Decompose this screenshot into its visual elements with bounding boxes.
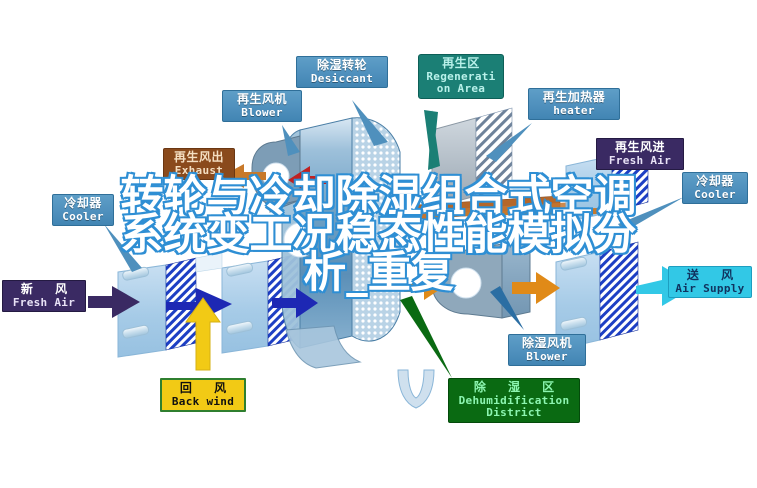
label-regen-fresh-air-in-en: Fresh Air [601, 155, 679, 167]
label-dehumid-blower-cn: 除湿风机 [513, 337, 581, 350]
diagram-canvas: 除湿转轮 Desiccant 再生风机 Blower 再生区 Regenerat… [0, 0, 757, 488]
label-dehumid-blower-en: Blower [513, 351, 581, 363]
label-regen-fresh-air-in[interactable]: 再生风进 Fresh Air [596, 138, 684, 170]
label-regeneration-area-en-2: on Area [423, 83, 499, 95]
label-regen-exhaust[interactable]: 再生风出 Exhaust [163, 148, 235, 180]
label-back-wind[interactable]: 回 风 Back wind [160, 378, 246, 412]
label-regen-blower[interactable]: 再生风机 Blower [222, 90, 302, 122]
label-cooler-right-en: Cooler [687, 189, 743, 201]
label-dehumidification-district-cn: 除 湿 区 [453, 381, 575, 394]
label-cooler-left[interactable]: 冷却器 Cooler [52, 194, 114, 226]
label-regen-exhaust-en: Exhaust [168, 165, 230, 177]
label-desiccant-wheel-cn: 除湿转轮 [301, 59, 383, 72]
label-regen-blower-cn: 再生风机 [227, 93, 297, 106]
label-back-wind-en: Back wind [166, 396, 240, 408]
label-air-supply[interactable]: 送 风 Air Supply [668, 266, 752, 298]
label-regen-exhaust-cn: 再生风出 [168, 151, 230, 164]
label-air-supply-cn: 送 风 [673, 269, 747, 282]
label-fresh-air-in-en: Fresh Air [7, 297, 81, 309]
label-cooler-right-cn: 冷却器 [687, 175, 743, 188]
label-dehumid-blower[interactable]: 除湿风机 Blower [508, 334, 586, 366]
label-regen-heater-cn: 再生加热器 [533, 91, 615, 104]
label-fresh-air-in[interactable]: 新 风 Fresh Air [2, 280, 86, 312]
label-back-wind-cn: 回 风 [166, 382, 240, 395]
label-cooler-left-en: Cooler [57, 211, 109, 223]
label-regeneration-area-cn: 再生区 [423, 57, 499, 70]
label-regen-blower-en: Blower [227, 107, 297, 119]
label-dehumidification-district-en-1: Dehumidification [453, 395, 575, 407]
label-desiccant-wheel[interactable]: 除湿转轮 Desiccant [296, 56, 388, 88]
label-fresh-air-in-cn: 新 风 [7, 283, 81, 296]
label-regen-heater[interactable]: 再生加热器 heater [528, 88, 620, 120]
label-cooler-right[interactable]: 冷却器 Cooler [682, 172, 748, 204]
label-regeneration-area[interactable]: 再生区 Regenerati on Area [418, 54, 504, 99]
label-regen-heater-en: heater [533, 105, 615, 117]
label-cooler-left-cn: 冷却器 [57, 197, 109, 210]
label-dehumidification-district-en-2: District [453, 407, 575, 419]
label-dehumidification-district[interactable]: 除 湿 区 Dehumidification District [448, 378, 580, 423]
label-air-supply-en: Air Supply [673, 283, 747, 295]
label-regen-fresh-air-in-cn: 再生风进 [601, 141, 679, 154]
label-desiccant-wheel-en: Desiccant [301, 73, 383, 85]
label-regeneration-area-en-1: Regenerati [423, 71, 499, 83]
